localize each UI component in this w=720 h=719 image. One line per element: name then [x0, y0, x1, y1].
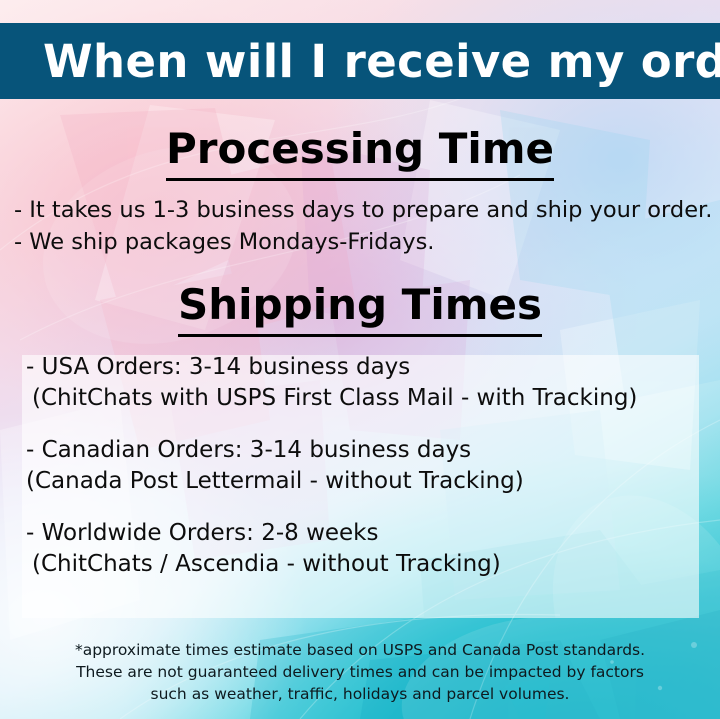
- processing-time-list: - It takes us 1-3 business days to prepa…: [14, 196, 714, 259]
- footnote-line-2: These are not guaranteed delivery times …: [30, 661, 690, 683]
- shipping-worldwide-main: - Worldwide Orders: 2-8 weeks: [26, 518, 716, 549]
- shipping-group-usa: - USA Orders: 3-14 business days (ChitCh…: [26, 352, 716, 413]
- shipping-canada-sub: (Canada Post Lettermail - without Tracki…: [26, 466, 716, 497]
- shipping-group-worldwide: - Worldwide Orders: 2-8 weeks (ChitChats…: [26, 518, 716, 579]
- shipping-times-heading: Shipping Times: [0, 284, 720, 326]
- processing-time-heading: Processing Time: [0, 128, 720, 170]
- processing-line-1: - It takes us 1-3 business days to prepa…: [14, 196, 714, 226]
- shipping-times-list: - USA Orders: 3-14 business days (ChitCh…: [26, 352, 716, 579]
- shipping-worldwide-sub: (ChitChats / Ascendia - without Tracking…: [26, 549, 716, 580]
- poster-content: Processing Time - It takes us 1-3 busine…: [0, 0, 720, 719]
- shipping-usa-sub: (ChitChats with USPS First Class Mail - …: [26, 383, 716, 414]
- faq-shipping-poster: When will I receive my order? Processing…: [0, 0, 720, 719]
- shipping-times-heading-text: Shipping Times: [178, 280, 542, 337]
- footnote-disclaimer: *approximate times estimate based on USP…: [0, 639, 720, 705]
- shipping-group-canada: - Canadian Orders: 3-14 business days (C…: [26, 435, 716, 496]
- shipping-canada-main: - Canadian Orders: 3-14 business days: [26, 435, 716, 466]
- footnote-line-3: such as weather, traffic, holidays and p…: [30, 683, 690, 705]
- shipping-usa-main: - USA Orders: 3-14 business days: [26, 352, 716, 383]
- processing-time-heading-text: Processing Time: [166, 124, 554, 181]
- footnote-line-1: *approximate times estimate based on USP…: [30, 639, 690, 661]
- processing-line-2: - We ship packages Mondays-Fridays.: [14, 228, 714, 258]
